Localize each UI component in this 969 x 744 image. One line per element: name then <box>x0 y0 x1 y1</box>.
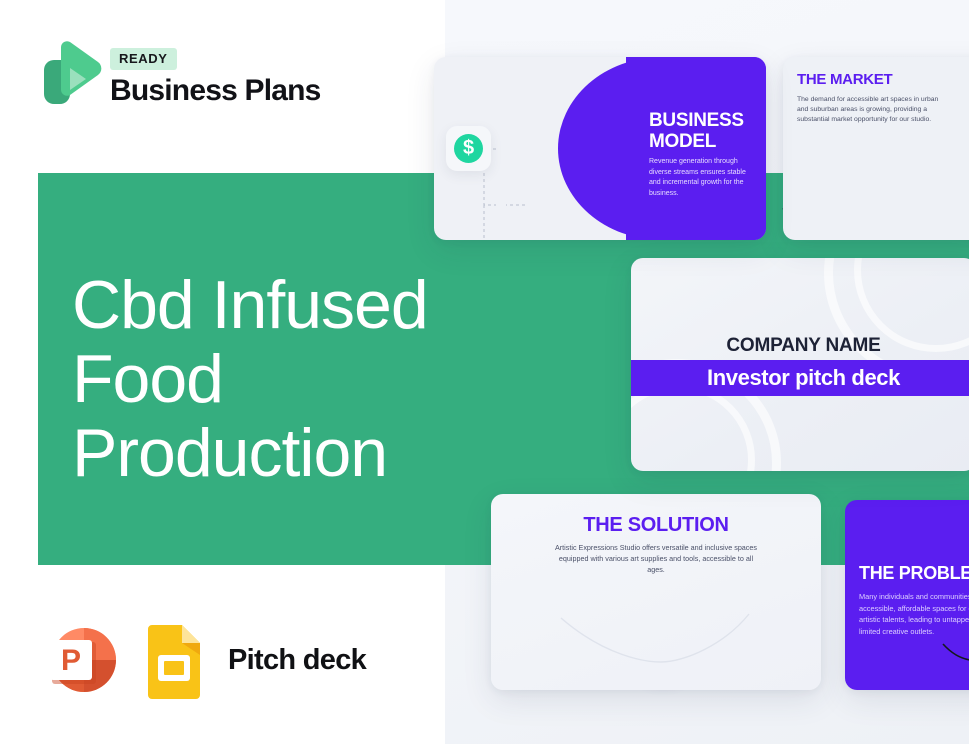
slide-company-name[interactable]: COMPANY NAME Investor pitch deck <box>631 258 969 471</box>
slide-the-problem[interactable]: THE PROBLEM Many individuals and communi… <box>845 500 969 690</box>
company-name-title: COMPANY NAME <box>631 335 969 357</box>
google-slides-file-icon <box>144 621 204 699</box>
svg-text:P: P <box>61 644 81 677</box>
solution-description: Artistic Expressions Studio offers versa… <box>554 542 758 575</box>
ready-badge: READY <box>110 48 177 70</box>
solution-connector-lines <box>535 604 785 664</box>
brand-name: Business Plans <box>110 74 321 108</box>
problem-description: Many individuals and communities lack ac… <box>859 591 969 637</box>
problem-title: THE PROBLEM <box>859 563 969 584</box>
brand-header: READY Business Plans <box>40 34 360 118</box>
investor-pitch-label: Investor pitch deck <box>631 360 969 396</box>
format-footer: P Pitch deck <box>42 618 366 702</box>
slide-the-solution[interactable]: THE SOLUTION Artistic Expressions Studio… <box>491 494 821 690</box>
poster-canvas: READY Business Plans Cbd Infused Food Pr… <box>0 0 969 744</box>
slide-the-market[interactable]: THE MARKET The demand for accessible art… <box>783 57 969 240</box>
business-model-description: Revenue generation through diverse strea… <box>649 157 759 199</box>
dollar-sign-icon: $ <box>454 134 483 163</box>
solution-title: THE SOLUTION <box>491 514 821 537</box>
page-title: Cbd Infused Food Production <box>72 268 472 490</box>
business-model-title: BUSINESS MODEL <box>649 110 766 152</box>
investor-pitch-band: Investor pitch deck <box>631 360 969 396</box>
play-triangle-logo-icon <box>40 38 102 110</box>
powerpoint-file-icon: P <box>42 618 126 702</box>
market-description: The demand for accessible art spaces in … <box>797 95 951 125</box>
market-title: THE MARKET <box>797 71 892 88</box>
footer-label: Pitch deck <box>228 644 366 677</box>
problem-curve-decoration <box>941 640 969 670</box>
